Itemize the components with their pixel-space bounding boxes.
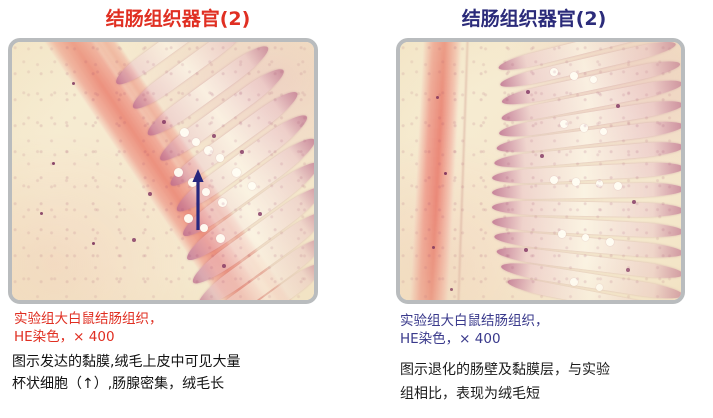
caption-right-stain-line2: HE染色，× 400 [400, 330, 712, 348]
caption-left-stain-line1: 实验组大白鼠结肠组织， [14, 310, 356, 328]
panel-left: 结肠组织器官(2) [0, 0, 356, 418]
caption-right-stain-line1: 实验组大白鼠结肠组织， [400, 312, 712, 330]
caption-right-description: 图示退化的肠壁及黏膜层，与实验 组相比，表现为绒毛短 [396, 358, 712, 406]
micrograph-left[interactable] [8, 38, 318, 304]
up-arrow-icon [190, 168, 206, 232]
caption-left-stain-line2: HE染色，× 400 [14, 328, 356, 346]
caption-right-description-line1: 图示退化的肠壁及黏膜层，与实验 [400, 358, 712, 382]
caption-left-description: 图示发达的黏膜,绒毛上皮中可见大量 杯状细胞（↑）,肠腺密集，绒毛长 [8, 351, 356, 395]
caption-left-stain: 实验组大白鼠结肠组织， HE染色，× 400 [8, 310, 356, 346]
panel-right: 结肠组织器官(2) [356, 0, 712, 418]
panel-right-title: 结肠组织器官(2) [396, 0, 712, 38]
caption-right-stain: 实验组大白鼠结肠组织， HE染色，× 400 [396, 312, 712, 348]
caption-left-description-line1: 图示发达的黏膜,绒毛上皮中可见大量 [12, 351, 356, 373]
caption-right-description-line2: 组相比，表现为绒毛短 [400, 382, 712, 406]
micrograph-right[interactable] [396, 38, 685, 304]
caption-left-description-line2: 杯状细胞（↑）,肠腺密集，绒毛长 [12, 373, 356, 395]
caption-right: 实验组大白鼠结肠组织， HE染色，× 400 图示退化的肠壁及黏膜层，与实验 组… [396, 312, 712, 406]
comparison-figure: 结肠组织器官(2) [0, 0, 713, 418]
tissue-texture [400, 42, 681, 300]
caption-left: 实验组大白鼠结肠组织， HE染色，× 400 图示发达的黏膜,绒毛上皮中可见大量… [8, 310, 356, 395]
tissue-texture [12, 42, 314, 300]
micrograph-left-slide [12, 42, 314, 300]
micrograph-right-slide [400, 42, 681, 300]
panel-left-title: 结肠组织器官(2) [8, 0, 356, 38]
